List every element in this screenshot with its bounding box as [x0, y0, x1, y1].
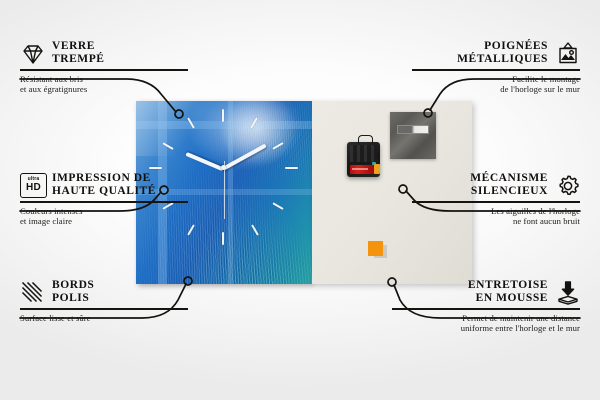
feature-subtitle: Surface lisse et sûre — [20, 313, 212, 323]
feature-header: ultra HD IMPRESSION DE HAUTE QUALITÉ — [20, 172, 212, 198]
feature-rule — [412, 201, 580, 203]
feature-header: VERRE TREMPÉ — [20, 40, 212, 66]
feature-header: ENTRETOISE EN MOUSSE — [368, 279, 580, 305]
feature-subtitle: Couleurs intenses et image claire — [20, 206, 212, 227]
feature-rule — [20, 69, 188, 71]
feature-verre-trempe[interactable]: VERRE TREMPÉ Résistant aux bris et aux é… — [20, 40, 212, 94]
feature-title: POIGNÉES MÉTALLIQUES — [457, 40, 548, 66]
feature-rule — [412, 69, 580, 71]
feature-mecanisme-silencieux[interactable]: MÉCANISME SILENCIEUX Les aiguilles de l'… — [388, 172, 580, 226]
feature-rule — [392, 308, 580, 310]
feature-header: BORDS POLIS — [20, 279, 212, 305]
feature-rule — [20, 308, 188, 310]
feature-title: VERRE TREMPÉ — [52, 40, 105, 66]
hands-hub — [221, 165, 226, 170]
gear-icon — [555, 173, 580, 198]
ultra-hd-icon-main-text: HD — [26, 183, 41, 193]
feature-entretoise-en-mousse[interactable]: ENTRETOISE EN MOUSSE Permet de maintenir… — [368, 279, 580, 333]
arrow-onto-pad-icon — [555, 280, 580, 305]
ultra-hd-icon: ultra HD — [20, 173, 45, 198]
hour-tick — [285, 167, 298, 169]
feature-subtitle: Résistant aux bris et aux égratignures — [20, 74, 212, 95]
mechanism-hanging-loop — [358, 135, 373, 145]
metal-hanger-plate — [390, 112, 436, 159]
feature-title: BORDS POLIS — [52, 279, 94, 305]
feature-title: MÉCANISME SILENCIEUX — [470, 172, 548, 198]
battery — [350, 165, 377, 174]
infographic-canvas: VERRE TREMPÉ Résistant aux bris et aux é… — [0, 0, 600, 400]
diagonal-lines-icon — [20, 280, 45, 305]
feature-header: POIGNÉES MÉTALLIQUES — [388, 40, 580, 66]
hour-tick — [222, 232, 224, 245]
hour-tick — [272, 202, 283, 210]
feature-impression-haute-qualite[interactable]: ultra HD IMPRESSION DE HAUTE QUALITÉ Cou… — [20, 172, 212, 226]
diamond-icon — [20, 41, 45, 66]
foam-spacer — [368, 241, 383, 256]
mechanism-body — [350, 145, 377, 162]
feature-subtitle: Facilite le montage de l'horloge sur le … — [388, 74, 580, 95]
feature-subtitle: Les aiguilles de l'horloge ne font aucun… — [388, 206, 580, 227]
feature-header: MÉCANISME SILENCIEUX — [388, 172, 580, 198]
clock-mechanism — [347, 142, 380, 177]
feature-bords-polis[interactable]: BORDS POLIS Surface lisse et sûre — [20, 279, 212, 323]
feature-title: ENTRETOISE EN MOUSSE — [468, 279, 548, 305]
feature-title: IMPRESSION DE HAUTE QUALITÉ — [52, 172, 156, 198]
hanging-frame-icon — [555, 41, 580, 66]
feature-subtitle: Permet de maintenir une distance uniform… — [368, 313, 580, 334]
hour-tick — [251, 224, 259, 235]
highlight-glow — [217, 101, 298, 167]
feature-poignees-metalliques[interactable]: POIGNÉES MÉTALLIQUES Facilite le montage… — [388, 40, 580, 94]
feature-rule — [20, 201, 188, 203]
